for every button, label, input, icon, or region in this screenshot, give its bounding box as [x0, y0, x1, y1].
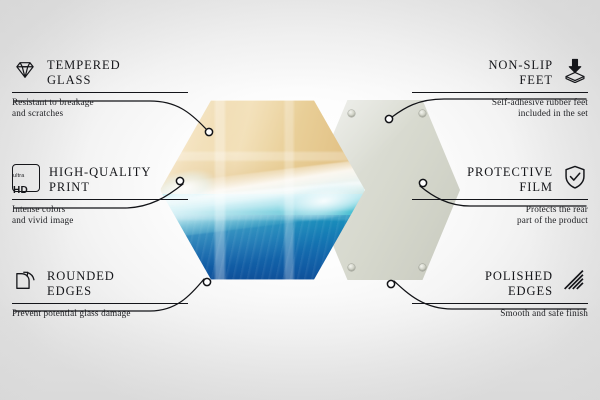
feature-title-line2: FILM	[467, 180, 553, 195]
feature-title-line2: PRINT	[49, 180, 151, 195]
feature-description: Resistant to breakage and scratches	[12, 97, 188, 120]
feature-protective-film: PROTECTIVE FILM Protects the rear part o…	[412, 164, 588, 227]
feature-rule	[12, 303, 188, 304]
feature-header: ultra HD HIGH-QUALITY PRINT	[12, 164, 188, 194]
feature-title-line2: EDGES	[485, 284, 553, 299]
feature-title-line2: GLASS	[47, 73, 121, 88]
feature-header: ROUNDED EDGES	[12, 268, 188, 298]
feature-rounded-edges: ROUNDED EDGES Prevent potential glass da…	[12, 268, 188, 319]
feature-non-slip-feet: NON-SLIP FEET Self-adhesive rubber feet …	[412, 57, 588, 120]
feature-title: ROUNDED EDGES	[47, 268, 115, 298]
feature-rule	[412, 199, 588, 200]
feature-title-line1: POLISHED	[485, 269, 553, 284]
feature-desc-line1: Self-adhesive rubber feet	[412, 97, 588, 108]
shield-check-icon	[562, 164, 588, 190]
feature-desc-line1: Prevent potential glass damage	[12, 308, 188, 319]
feature-desc-line1: Smooth and safe finish	[412, 308, 588, 319]
feature-title-line1: NON-SLIP	[488, 58, 553, 73]
feature-rule	[412, 303, 588, 304]
feature-title-line1: PROTECTIVE	[467, 165, 553, 180]
feature-rule	[12, 92, 188, 93]
feature-title: TEMPERED GLASS	[47, 57, 121, 87]
connector-endpoint-non-slip-feet	[385, 115, 392, 122]
feature-description: Protects the rear part of the product	[412, 204, 588, 227]
feature-title: POLISHED EDGES	[485, 268, 553, 298]
feature-title: PROTECTIVE FILM	[467, 164, 553, 194]
feature-header: TEMPERED GLASS	[12, 57, 188, 87]
feature-title-line2: FEET	[488, 73, 553, 88]
feature-description: Prevent potential glass damage	[12, 308, 188, 319]
feature-rule	[12, 199, 188, 200]
feature-title-line1: HIGH-QUALITY	[49, 165, 151, 180]
feature-title: NON-SLIP FEET	[488, 57, 553, 87]
rounded-corner-icon	[12, 268, 38, 294]
feature-desc-line2: and vivid image	[12, 215, 188, 226]
ultra-hd-icon-bottom-text: HD	[13, 185, 28, 196]
feature-title-line1: ROUNDED	[47, 269, 115, 284]
feature-header: POLISHED EDGES	[412, 268, 588, 298]
press-down-pad-icon	[562, 57, 588, 83]
feature-description: Smooth and safe finish	[412, 308, 588, 319]
feature-title-line1: TEMPERED	[47, 58, 121, 73]
feature-title: HIGH-QUALITY PRINT	[49, 164, 151, 194]
feature-desc-line2: part of the product	[412, 215, 588, 226]
ultra-hd-icon-top-text: ultra	[13, 173, 25, 179]
feature-high-quality-print: ultra HD HIGH-QUALITY PRINT Intense colo…	[12, 164, 188, 227]
ultra-hd-icon: ultra HD	[12, 164, 40, 192]
feature-desc-line1: Intense colors	[12, 204, 188, 215]
feature-polished-edges: POLISHED EDGES Smooth and safe finish	[412, 268, 588, 319]
feature-tempered-glass: TEMPERED GLASS Resistant to breakage and…	[12, 57, 188, 120]
connector-endpoint-rounded-edges	[203, 278, 210, 285]
feature-header: NON-SLIP FEET	[412, 57, 588, 87]
feature-rule	[412, 92, 588, 93]
feature-desc-line2: included in the set	[412, 108, 588, 119]
feature-desc-line1: Protects the rear	[412, 204, 588, 215]
hatched-triangle-icon	[562, 268, 588, 294]
feature-desc-line2: and scratches	[12, 108, 188, 119]
diamond-icon	[12, 57, 38, 83]
connector-endpoint-polished-edges	[387, 280, 394, 287]
feature-desc-line1: Resistant to breakage	[12, 97, 188, 108]
infographic-canvas: TEMPERED GLASS Resistant to breakage and…	[0, 0, 600, 400]
feature-header: PROTECTIVE FILM	[412, 164, 588, 194]
feature-description: Self-adhesive rubber feet included in th…	[412, 97, 588, 120]
feature-description: Intense colors and vivid image	[12, 204, 188, 227]
feature-title-line2: EDGES	[47, 284, 115, 299]
connector-endpoint-tempered-glass	[205, 128, 212, 135]
